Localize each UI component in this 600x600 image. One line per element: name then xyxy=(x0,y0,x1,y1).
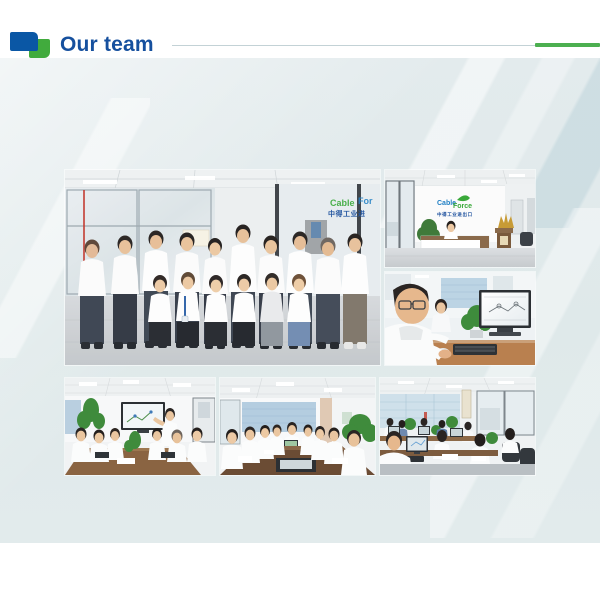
photo-meeting-presentation[interactable] xyxy=(65,378,215,475)
svg-text:中得工业进出口: 中得工业进出口 xyxy=(437,211,473,218)
photo-open-office[interactable] xyxy=(380,378,535,475)
page-root: Our team xyxy=(0,0,600,600)
brand-mark-blue-square xyxy=(10,32,38,51)
photo-conference-table[interactable] xyxy=(220,378,375,475)
section-header: Our team xyxy=(0,24,600,68)
brand-mark-icon xyxy=(10,32,56,62)
photo-lobby-reception[interactable]: Cable Force 中得工业进出口 xyxy=(385,170,535,267)
photo-team-group[interactable]: Cable For 中得工业进 xyxy=(65,170,380,365)
photo-engineer-workstation[interactable] xyxy=(385,272,535,365)
page-title: Our team xyxy=(60,30,154,60)
svg-text:Force: Force xyxy=(453,203,472,210)
header-divider-accent xyxy=(535,43,600,47)
photo-gallery: Cable For 中得工业进 xyxy=(65,170,535,475)
